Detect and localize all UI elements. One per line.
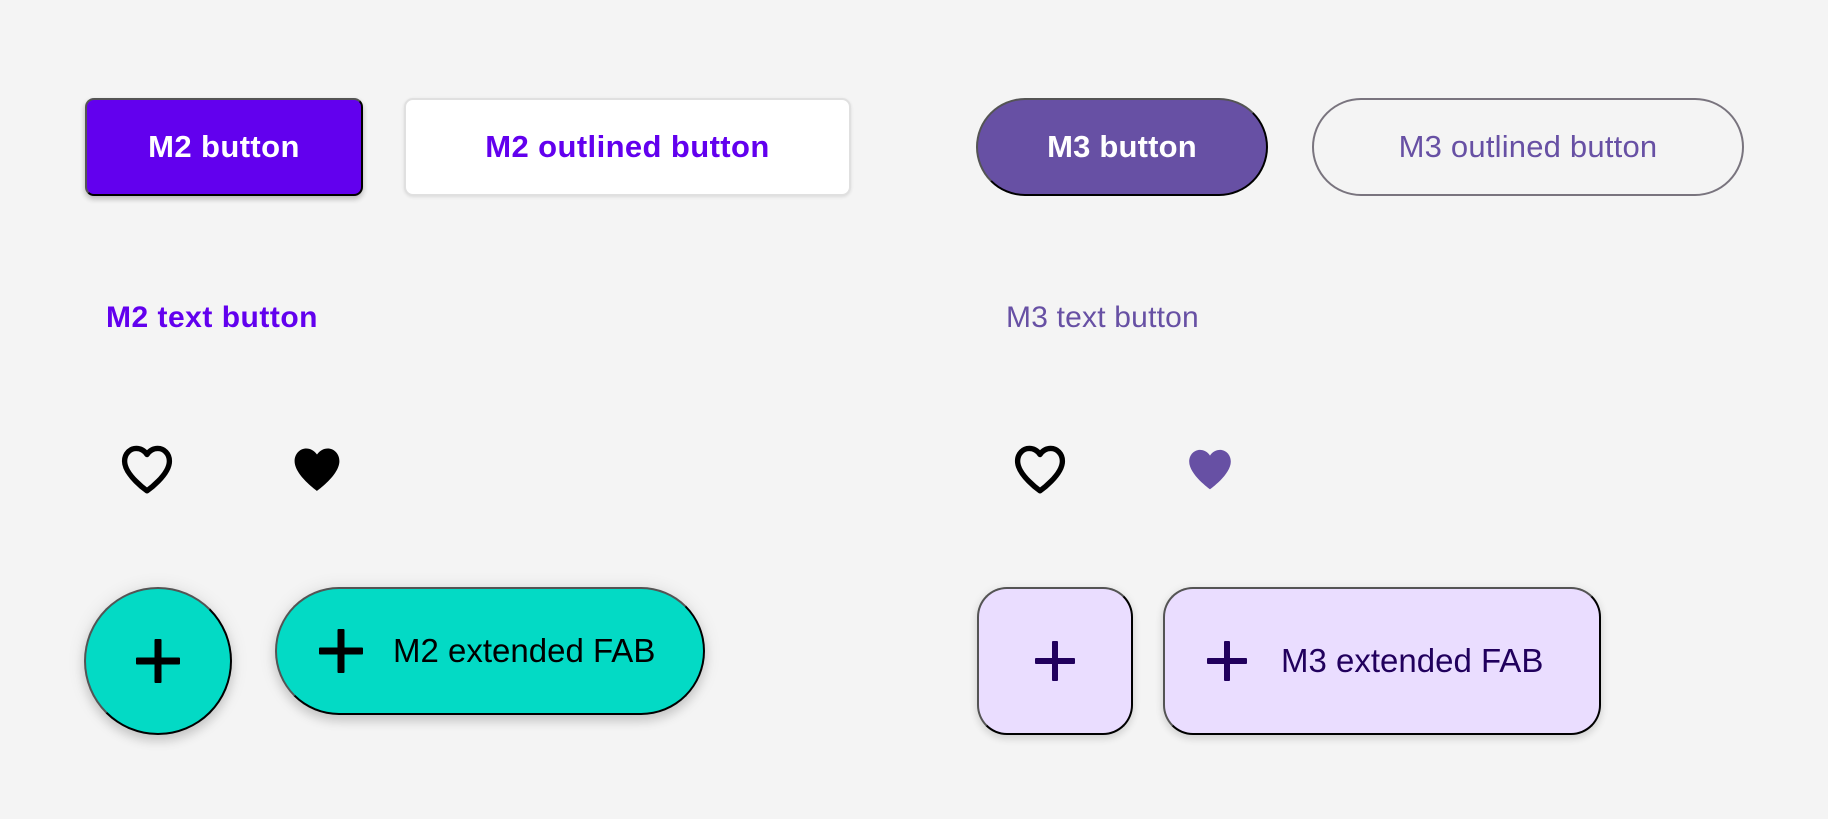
m3-outlined-button[interactable]: M3 outlined button	[1312, 98, 1744, 196]
m3-filled-button[interactable]: M3 button	[976, 98, 1268, 196]
heart-filled-icon	[289, 443, 345, 495]
m2-outlined-button-label: M2 outlined button	[485, 129, 769, 165]
comparison-canvas: M2 button M2 outlined button M3 button M…	[0, 0, 1828, 819]
heart-outline-icon	[1012, 443, 1068, 495]
m3-fab[interactable]	[977, 587, 1133, 735]
m3-outlined-button-label: M3 outlined button	[1399, 129, 1658, 165]
m3-favorite-icon-button-selected[interactable]	[1178, 437, 1242, 501]
m2-extended-fab-label: M2 extended FAB	[393, 632, 655, 670]
m3-extended-fab[interactable]: M3 extended FAB	[1163, 587, 1601, 735]
m2-filled-button-label: M2 button	[148, 129, 300, 165]
m2-favorite-icon-button-selected[interactable]	[285, 437, 349, 501]
m3-favorite-icon-button-unselected[interactable]	[1008, 437, 1072, 501]
heart-outline-icon	[119, 443, 175, 495]
plus-icon	[319, 629, 363, 673]
m3-filled-button-label: M3 button	[1047, 129, 1197, 165]
m2-fab[interactable]	[84, 587, 232, 735]
plus-icon	[1207, 641, 1247, 681]
m2-favorite-icon-button-unselected[interactable]	[115, 437, 179, 501]
m3-text-button-label: M3 text button	[1006, 301, 1199, 335]
plus-icon	[1035, 641, 1075, 681]
m2-extended-fab[interactable]: M2 extended FAB	[275, 587, 705, 715]
m3-extended-fab-label: M3 extended FAB	[1281, 642, 1543, 680]
m2-text-button-label: M2 text button	[106, 301, 318, 335]
m2-text-button[interactable]: M2 text button	[106, 296, 318, 340]
heart-filled-icon	[1184, 445, 1236, 493]
m3-text-button[interactable]: M3 text button	[1006, 296, 1199, 340]
m2-filled-button[interactable]: M2 button	[85, 98, 363, 196]
m2-outlined-button[interactable]: M2 outlined button	[404, 98, 851, 196]
plus-icon	[136, 639, 180, 683]
